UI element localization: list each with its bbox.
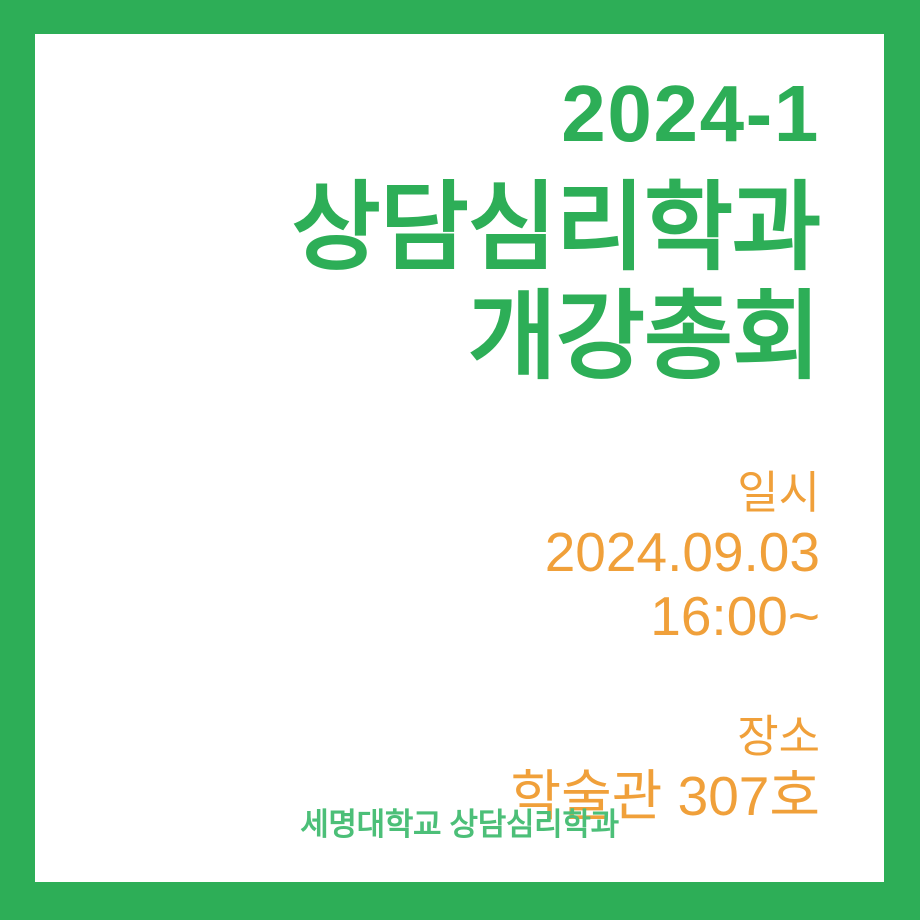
headline-block: 2024-1 상담심리학과 개강총회 bbox=[60, 72, 820, 392]
headline-department: 상담심리학과 bbox=[60, 173, 820, 283]
info-value-time: 16:00~ bbox=[100, 585, 820, 649]
poster-canvas: 2024-1 상담심리학과 개강총회 일시 2024.09.03 16:00~ … bbox=[0, 0, 920, 920]
info-value-date: 2024.09.03 bbox=[100, 521, 820, 585]
info-label-datetime: 일시 bbox=[100, 466, 820, 521]
info-block: 일시 2024.09.03 16:00~ 장소 학술관 307호 bbox=[100, 466, 820, 829]
headline-term: 2024-1 bbox=[60, 72, 820, 157]
info-group-datetime: 일시 2024.09.03 16:00~ bbox=[100, 466, 820, 648]
info-label-place: 장소 bbox=[100, 710, 820, 765]
headline-event: 개강총회 bbox=[60, 282, 820, 392]
footer-credit: 세명대학교 상담심리학과 bbox=[35, 806, 884, 843]
poster-inner-panel: 2024-1 상담심리학과 개강총회 일시 2024.09.03 16:00~ … bbox=[35, 34, 884, 882]
